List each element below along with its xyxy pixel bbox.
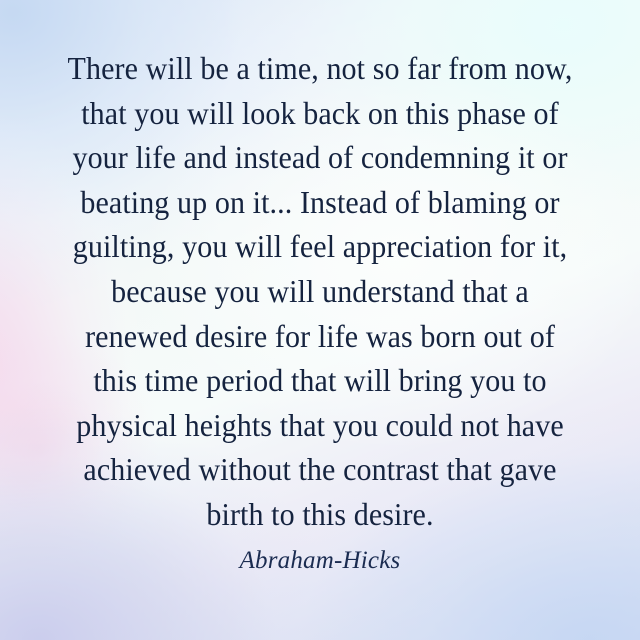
- quote-attribution: Abraham-Hicks: [240, 546, 401, 576]
- quote-content: There will be a time, not so far from no…: [0, 0, 640, 640]
- quote-line: renewed desire for life was born out of: [34, 315, 606, 360]
- quote-card: There will be a time, not so far from no…: [0, 0, 640, 640]
- quote-line: achieved without the contrast that gave: [34, 448, 606, 493]
- quote-line: physical heights that you could not have: [34, 404, 606, 449]
- quote-line: There will be a time, not so far from no…: [34, 47, 606, 92]
- quote-line: beating up on it... Instead of blaming o…: [34, 181, 606, 226]
- quote-line: because you will understand that a: [34, 270, 606, 315]
- quote-line: your life and instead of condemning it o…: [34, 136, 606, 181]
- quote-body: There will be a time, not so far from no…: [20, 47, 620, 538]
- quote-line: birth to this desire.: [34, 493, 606, 538]
- quote-line: this time period that will bring you to: [34, 359, 606, 404]
- quote-line: that you will look back on this phase of: [34, 92, 606, 137]
- quote-line: guilting, you will feel appreciation for…: [34, 225, 606, 270]
